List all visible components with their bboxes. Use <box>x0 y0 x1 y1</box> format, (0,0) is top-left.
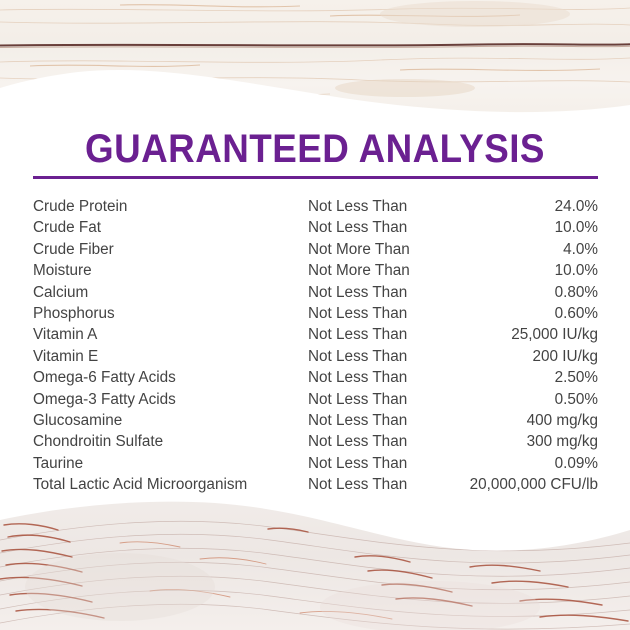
nutrient-name: Crude Protein <box>33 196 308 217</box>
guaranteed-analysis-label: GUARANTEED ANALYSIS Crude Protein Not Le… <box>0 0 630 630</box>
nutrient-amount: 2.50% <box>438 367 598 388</box>
nutrient-name: Moisture <box>33 260 308 281</box>
nutrient-qualifier: Not Less Than <box>308 303 438 324</box>
table-row: Omega-3 Fatty Acids Not Less Than 0.50% <box>33 389 598 410</box>
guaranteed-analysis-table: Crude Protein Not Less Than 24.0% Crude … <box>33 196 598 495</box>
nutrient-name: Crude Fat <box>33 217 308 238</box>
nutrient-qualifier: Not Less Than <box>308 324 438 345</box>
page-title: GUARANTEED ANALYSIS <box>85 127 545 171</box>
top-wood-border <box>0 0 630 120</box>
nutrient-name: Phosphorus <box>33 303 308 324</box>
nutrient-name: Glucosamine <box>33 410 308 431</box>
nutrient-amount: 10.0% <box>438 260 598 281</box>
nutrient-amount: 0.80% <box>438 282 598 303</box>
nutrient-name: Vitamin E <box>33 346 308 367</box>
page-title-wrap: GUARANTEED ANALYSIS <box>0 127 630 171</box>
nutrient-qualifier: Not Less Than <box>308 217 438 238</box>
nutrient-qualifier: Not More Than <box>308 239 438 260</box>
table-row: Calcium Not Less Than 0.80% <box>33 282 598 303</box>
table-row: Crude Fiber Not More Than 4.0% <box>33 239 598 260</box>
nutrient-amount: 300 mg/kg <box>438 431 598 452</box>
nutrient-amount: 10.0% <box>438 217 598 238</box>
nutrient-qualifier: Not Less Than <box>308 389 438 410</box>
nutrient-amount: 200 IU/kg <box>438 346 598 367</box>
nutrient-name: Calcium <box>33 282 308 303</box>
nutrient-amount: 0.50% <box>438 389 598 410</box>
table-row: Omega-6 Fatty Acids Not Less Than 2.50% <box>33 367 598 388</box>
nutrient-qualifier: Not Less Than <box>308 346 438 367</box>
nutrient-qualifier: Not More Than <box>308 260 438 281</box>
nutrient-qualifier: Not Less Than <box>308 367 438 388</box>
nutrient-amount: 4.0% <box>438 239 598 260</box>
table-row: Chondroitin Sulfate Not Less Than 300 mg… <box>33 431 598 452</box>
top-wood-graphic <box>0 0 630 120</box>
nutrient-name: Chondroitin Sulfate <box>33 431 308 452</box>
title-underline-rule <box>33 176 598 179</box>
nutrient-name: Vitamin A <box>33 324 308 345</box>
bottom-wood-border <box>0 495 630 630</box>
table-row: Glucosamine Not Less Than 400 mg/kg <box>33 410 598 431</box>
nutrient-qualifier: Not Less Than <box>308 453 438 474</box>
nutrient-name: Omega-3 Fatty Acids <box>33 389 308 410</box>
nutrient-qualifier: Not Less Than <box>308 196 438 217</box>
table-row: Crude Fat Not Less Than 10.0% <box>33 217 598 238</box>
table-row: Crude Protein Not Less Than 24.0% <box>33 196 598 217</box>
table-row: Moisture Not More Than 10.0% <box>33 260 598 281</box>
nutrient-name: Taurine <box>33 453 308 474</box>
nutrient-amount: 25,000 IU/kg <box>438 324 598 345</box>
nutrient-name: Crude Fiber <box>33 239 308 260</box>
table-row: Vitamin A Not Less Than 25,000 IU/kg <box>33 324 598 345</box>
nutrient-amount: 24.0% <box>438 196 598 217</box>
nutrient-amount: 0.60% <box>438 303 598 324</box>
nutrient-qualifier: Not Less Than <box>308 474 438 495</box>
table-row: Phosphorus Not Less Than 0.60% <box>33 303 598 324</box>
nutrient-amount: 400 mg/kg <box>438 410 598 431</box>
nutrient-qualifier: Not Less Than <box>308 431 438 452</box>
nutrient-qualifier: Not Less Than <box>308 282 438 303</box>
table-row: Vitamin E Not Less Than 200 IU/kg <box>33 346 598 367</box>
table-row: Taurine Not Less Than 0.09% <box>33 453 598 474</box>
nutrient-qualifier: Not Less Than <box>308 410 438 431</box>
nutrient-name: Omega-6 Fatty Acids <box>33 367 308 388</box>
nutrient-amount: 0.09% <box>438 453 598 474</box>
nutrient-amount: 20,000,000 CFU/lb <box>438 474 598 495</box>
bottom-wood-graphic <box>0 495 630 630</box>
table-row: Total Lactic Acid Microorganism Not Less… <box>33 474 598 495</box>
nutrient-name: Total Lactic Acid Microorganism <box>33 474 308 495</box>
